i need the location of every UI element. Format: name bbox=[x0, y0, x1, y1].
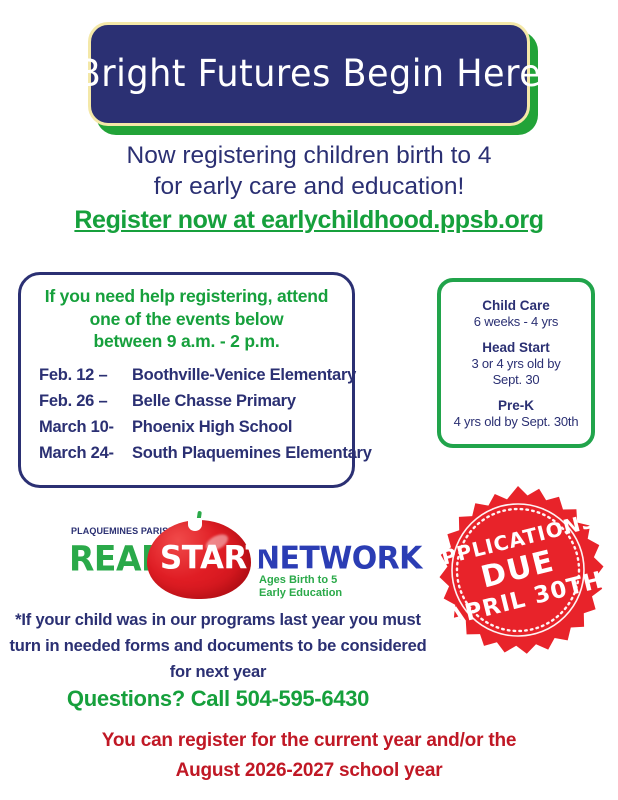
events-heading: If you need help registering, attend one… bbox=[31, 285, 342, 353]
note-line-1: *If your child was in our programs last … bbox=[8, 607, 428, 633]
event-place: Boothville-Venice Elementary bbox=[132, 362, 356, 388]
program-detail-2: Sept. 30 bbox=[443, 372, 589, 388]
event-place: South Plaquemines Elementary bbox=[132, 440, 372, 466]
event-row: March 10- Phoenix High School bbox=[31, 414, 342, 440]
program-name: Pre-K bbox=[443, 397, 589, 414]
events-heading-line-1: If you need help registering, attend bbox=[31, 285, 342, 308]
event-row: Feb. 12 – Boothville-Venice Elementary bbox=[31, 362, 342, 388]
banner-title: Bright Futures Begin Here bbox=[77, 52, 542, 95]
register-link[interactable]: Register now at earlychildhood.ppsb.org bbox=[74, 206, 543, 235]
footer-line-1: You can register for the current year an… bbox=[44, 726, 574, 756]
ready-start-network-logo: PLAQUEMINES PARISH READY START NETWORK A… bbox=[63, 508, 373, 600]
program-detail: 4 yrs old by Sept. 30th bbox=[443, 414, 589, 430]
program-detail: 3 or 4 yrs old by bbox=[443, 356, 589, 372]
school-year-note: You can register for the current year an… bbox=[44, 726, 574, 786]
intro-block: Now registering children birth to 4 for … bbox=[0, 140, 618, 235]
event-date: March 10- bbox=[39, 414, 132, 440]
program-name: Head Start bbox=[443, 339, 589, 356]
programs-box: Child Care 6 weeks - 4 yrs Head Start 3 … bbox=[437, 278, 595, 448]
intro-line-1: Now registering children birth to 4 bbox=[0, 140, 618, 171]
events-heading-line-3: between 9 a.m. - 2 p.m. bbox=[31, 330, 342, 353]
program-item: Head Start 3 or 4 yrs old by Sept. 30 bbox=[443, 339, 589, 388]
event-row: March 24- South Plaquemines Elementary bbox=[31, 440, 342, 466]
note-line-3: for next year bbox=[8, 659, 428, 685]
event-date: Feb. 26 – bbox=[39, 388, 132, 414]
header-banner: Bright Futures Begin Here bbox=[88, 22, 530, 126]
event-date: March 24- bbox=[39, 440, 132, 466]
footer-line-2: August 2026-2027 school year bbox=[44, 756, 574, 786]
logo-word-network: NETWORK bbox=[255, 540, 422, 577]
note-line-2: turn in needed forms and documents to be… bbox=[8, 633, 428, 659]
returning-families-note: *If your child was in our programs last … bbox=[8, 607, 428, 685]
event-place: Phoenix High School bbox=[132, 414, 342, 440]
banner-plate: Bright Futures Begin Here bbox=[88, 22, 530, 126]
event-row: Feb. 26 – Belle Chasse Primary bbox=[31, 388, 342, 414]
event-date: Feb. 12 – bbox=[39, 362, 132, 388]
program-item: Pre-K 4 yrs old by Sept. 30th bbox=[443, 397, 589, 430]
program-item: Child Care 6 weeks - 4 yrs bbox=[443, 297, 589, 330]
events-box: If you need help registering, attend one… bbox=[18, 272, 355, 488]
program-name: Child Care bbox=[443, 297, 589, 314]
questions-phone[interactable]: Questions? Call 504-595-6430 bbox=[28, 686, 408, 712]
applications-due-badge: APPLICATIONS DUE APRIL 30TH bbox=[432, 484, 604, 656]
events-heading-line-2: one of the events below bbox=[31, 308, 342, 331]
event-place: Belle Chasse Primary bbox=[132, 388, 342, 414]
logo-tagline: Ages Birth to 5 Early Education bbox=[259, 574, 342, 600]
program-detail: 6 weeks - 4 yrs bbox=[443, 314, 589, 330]
logo-tagline-line-2: Early Education bbox=[259, 587, 342, 600]
logo-word-start: START bbox=[153, 539, 273, 576]
intro-line-2: for early care and education! bbox=[0, 171, 618, 202]
